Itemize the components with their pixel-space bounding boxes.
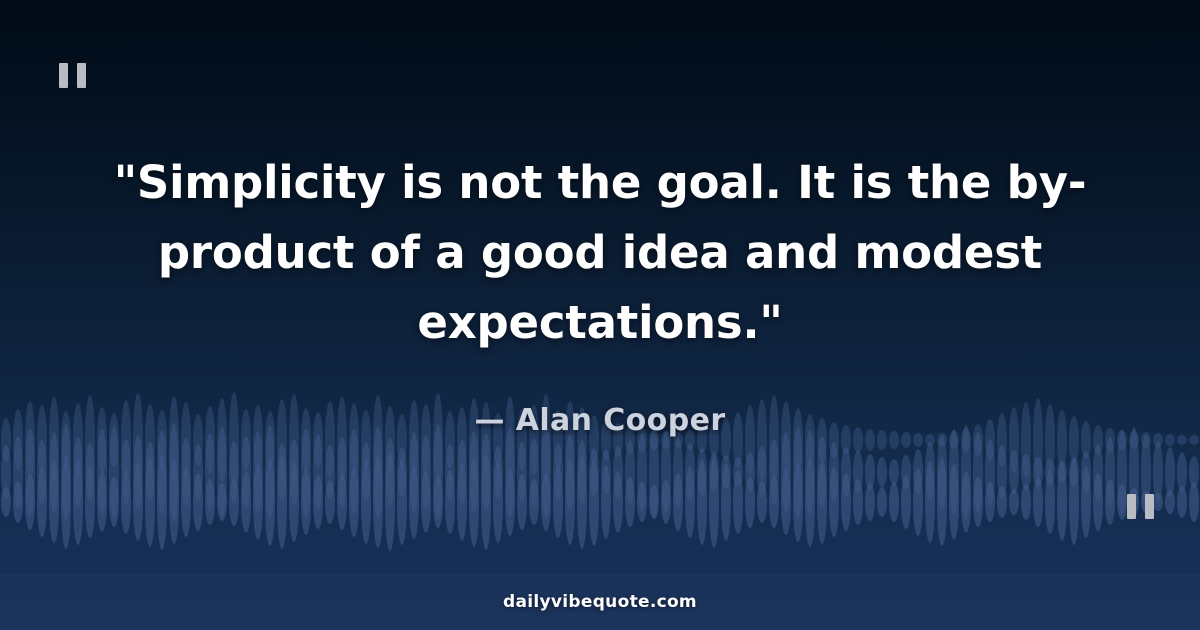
quote-text: "Simplicity is not the goal. It is the b… (70, 148, 1130, 357)
quote-attribution: — Alan Cooper (474, 403, 725, 438)
site-watermark: dailyvibequote.com (503, 592, 697, 612)
footer-band: dailyvibequote.com (0, 574, 1200, 630)
quote-content: "Simplicity is not the goal. It is the b… (0, 0, 1200, 630)
quote-card: "Simplicity is not the goal. It is the b… (0, 0, 1200, 630)
